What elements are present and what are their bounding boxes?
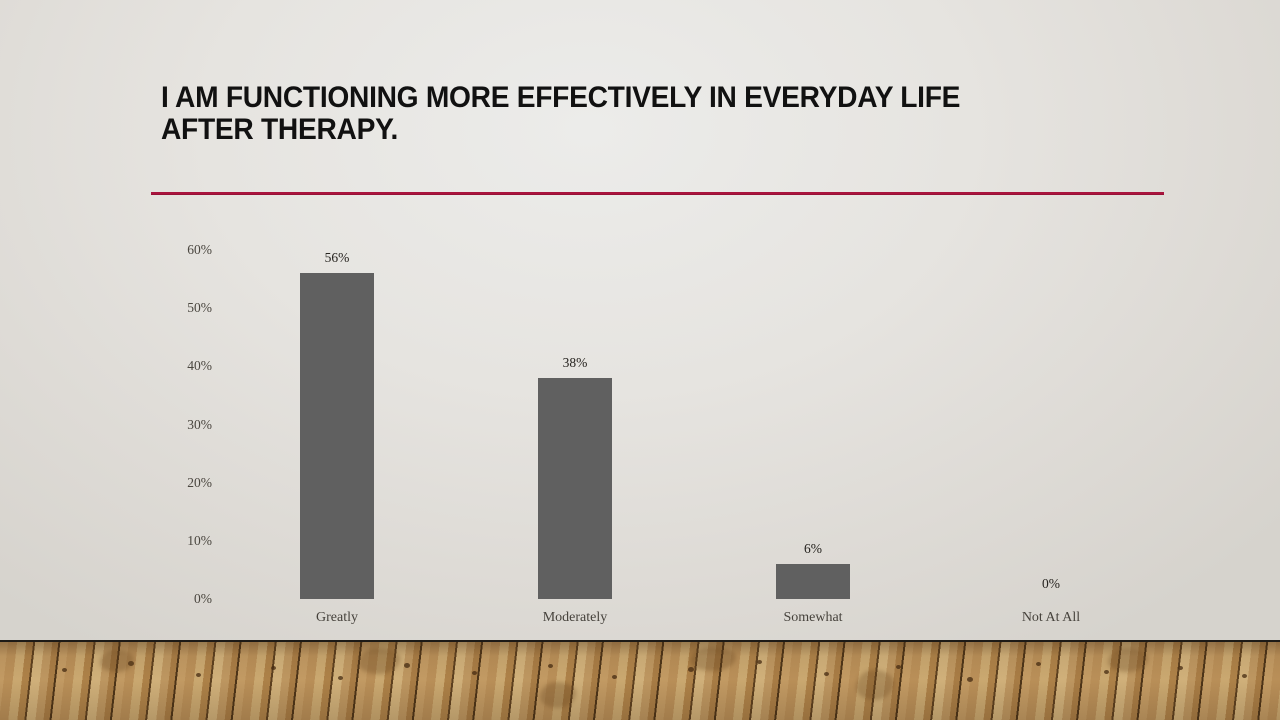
bar-greatly[interactable] — [300, 273, 374, 599]
x-axis-label-moderately: Moderately — [543, 610, 608, 626]
bar-value-label: 0% — [1042, 576, 1060, 592]
x-axis-label-greatly: Greatly — [316, 610, 358, 626]
title-accent-rule — [151, 192, 1164, 195]
wood-floor-image — [0, 640, 1280, 720]
plot-area: 56% Greatly 38% Moderately 6% Somewhat 0… — [218, 250, 1170, 599]
bar-value-label: 38% — [563, 355, 588, 371]
y-axis-tick: 40% — [160, 358, 212, 374]
y-axis-tick: 20% — [160, 475, 212, 491]
y-axis: 60% 50% 40% 30% 20% 10% 0% — [160, 250, 212, 599]
y-axis-tick: 50% — [160, 300, 212, 316]
x-axis-label-somewhat: Somewhat — [783, 610, 842, 626]
bar-moderately[interactable] — [538, 378, 612, 599]
bar-group-greatly: 56% Greatly — [218, 250, 456, 599]
page-title: I AM FUNCTIONING MORE EFFECTIVELY IN EVE… — [161, 82, 1121, 146]
bar-somewhat[interactable] — [776, 564, 850, 599]
bar-group-moderately: 38% Moderately — [456, 250, 694, 599]
slide: I AM FUNCTIONING MORE EFFECTIVELY IN EVE… — [0, 0, 1280, 720]
title-block: I AM FUNCTIONING MORE EFFECTIVELY IN EVE… — [161, 82, 1166, 146]
bar-group-not-at-all: 0% Not At All — [932, 250, 1170, 599]
bar-value-label: 56% — [325, 250, 350, 266]
y-axis-tick: 60% — [160, 242, 212, 258]
bar-group-somewhat: 6% Somewhat — [694, 250, 932, 599]
y-axis-tick: 0% — [160, 591, 212, 607]
bar-chart: 60% 50% 40% 30% 20% 10% 0% 56% Greatly 3… — [160, 250, 1170, 635]
y-axis-tick: 10% — [160, 533, 212, 549]
bar-value-label: 6% — [804, 541, 822, 557]
y-axis-tick: 30% — [160, 417, 212, 433]
x-axis-label-not-at-all: Not At All — [1022, 610, 1080, 626]
